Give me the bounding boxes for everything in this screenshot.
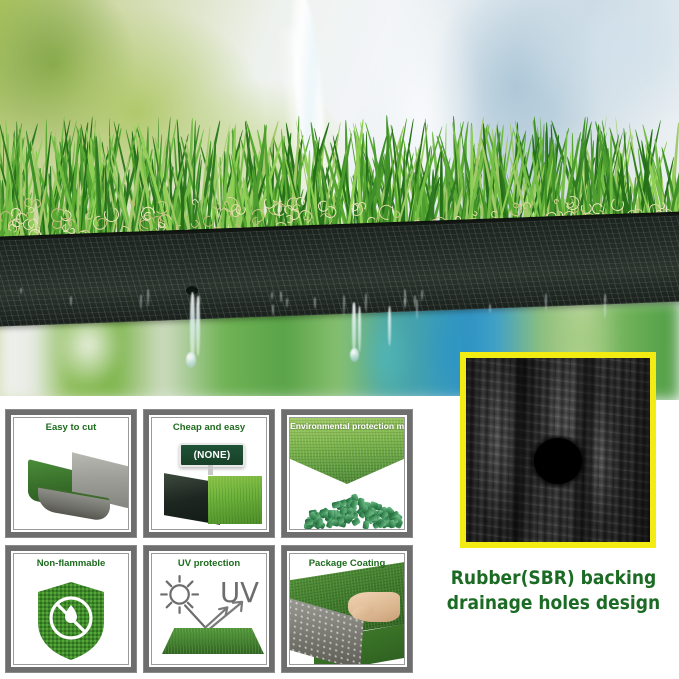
none-sign-icon: (NONE) (179, 443, 245, 467)
feature-title: Non-flammable (14, 558, 128, 569)
feature-card-body: UV protection (152, 554, 266, 665)
hero-photo: Drain Efficently (0, 0, 679, 400)
feature-card-cheap-and-easy[interactable]: Cheap and easy (NONE) (144, 410, 274, 537)
feature-card-body: Package Coating (290, 554, 404, 665)
feature-card-body: Cheap and easy (NONE) (152, 418, 266, 529)
feature-card-body: Environmental protection materials (290, 418, 404, 529)
sign-post-icon (208, 465, 213, 475)
feature-card-body: Non-flammable (14, 554, 128, 665)
green-pellets-icon (304, 489, 404, 523)
turf-ground-icon (162, 628, 264, 654)
feature-title: Package Coating (290, 558, 404, 569)
drainage-hole-icon (534, 438, 582, 484)
feature-card-easy-to-cut[interactable]: Easy to cut (6, 410, 136, 537)
product-infographic: Drain Efficently Easy to cut Cheap and e… (0, 0, 679, 679)
feature-card-uv-protection[interactable]: UV protection (144, 546, 274, 673)
rubber-caption-line2: drainage holes design (441, 591, 667, 616)
feature-grid: Easy to cut Cheap and easy (NONE) (6, 410, 412, 672)
page-title: Drain Efficently (48, 18, 632, 68)
feature-card-package-coating[interactable]: Package Coating (282, 546, 412, 673)
rubber-caption: Rubber(SBR) backing drainage holes desig… (441, 566, 667, 616)
rubber-caption-line1: Rubber(SBR) backing (441, 566, 667, 591)
feature-card-environmental-protection-materials[interactable]: Environmental protection materials (282, 410, 412, 537)
rolled-turf-icon (28, 448, 128, 518)
feature-card-body: Easy to cut (14, 418, 128, 529)
no-fire-shield-icon (34, 580, 108, 662)
none-sign-label: (NONE) (194, 450, 231, 461)
feature-title: Easy to cut (14, 422, 128, 433)
feature-title: Cheap and easy (152, 422, 266, 433)
feature-title: Environmental protection materials (290, 421, 404, 431)
feature-card-non-flammable[interactable]: Non-flammable (6, 546, 136, 673)
green-turf-sheet-icon (208, 476, 262, 524)
rubber-backing-photo[interactable] (460, 352, 656, 548)
feature-title: UV protection (152, 558, 266, 569)
uv-label: UV (220, 575, 259, 608)
